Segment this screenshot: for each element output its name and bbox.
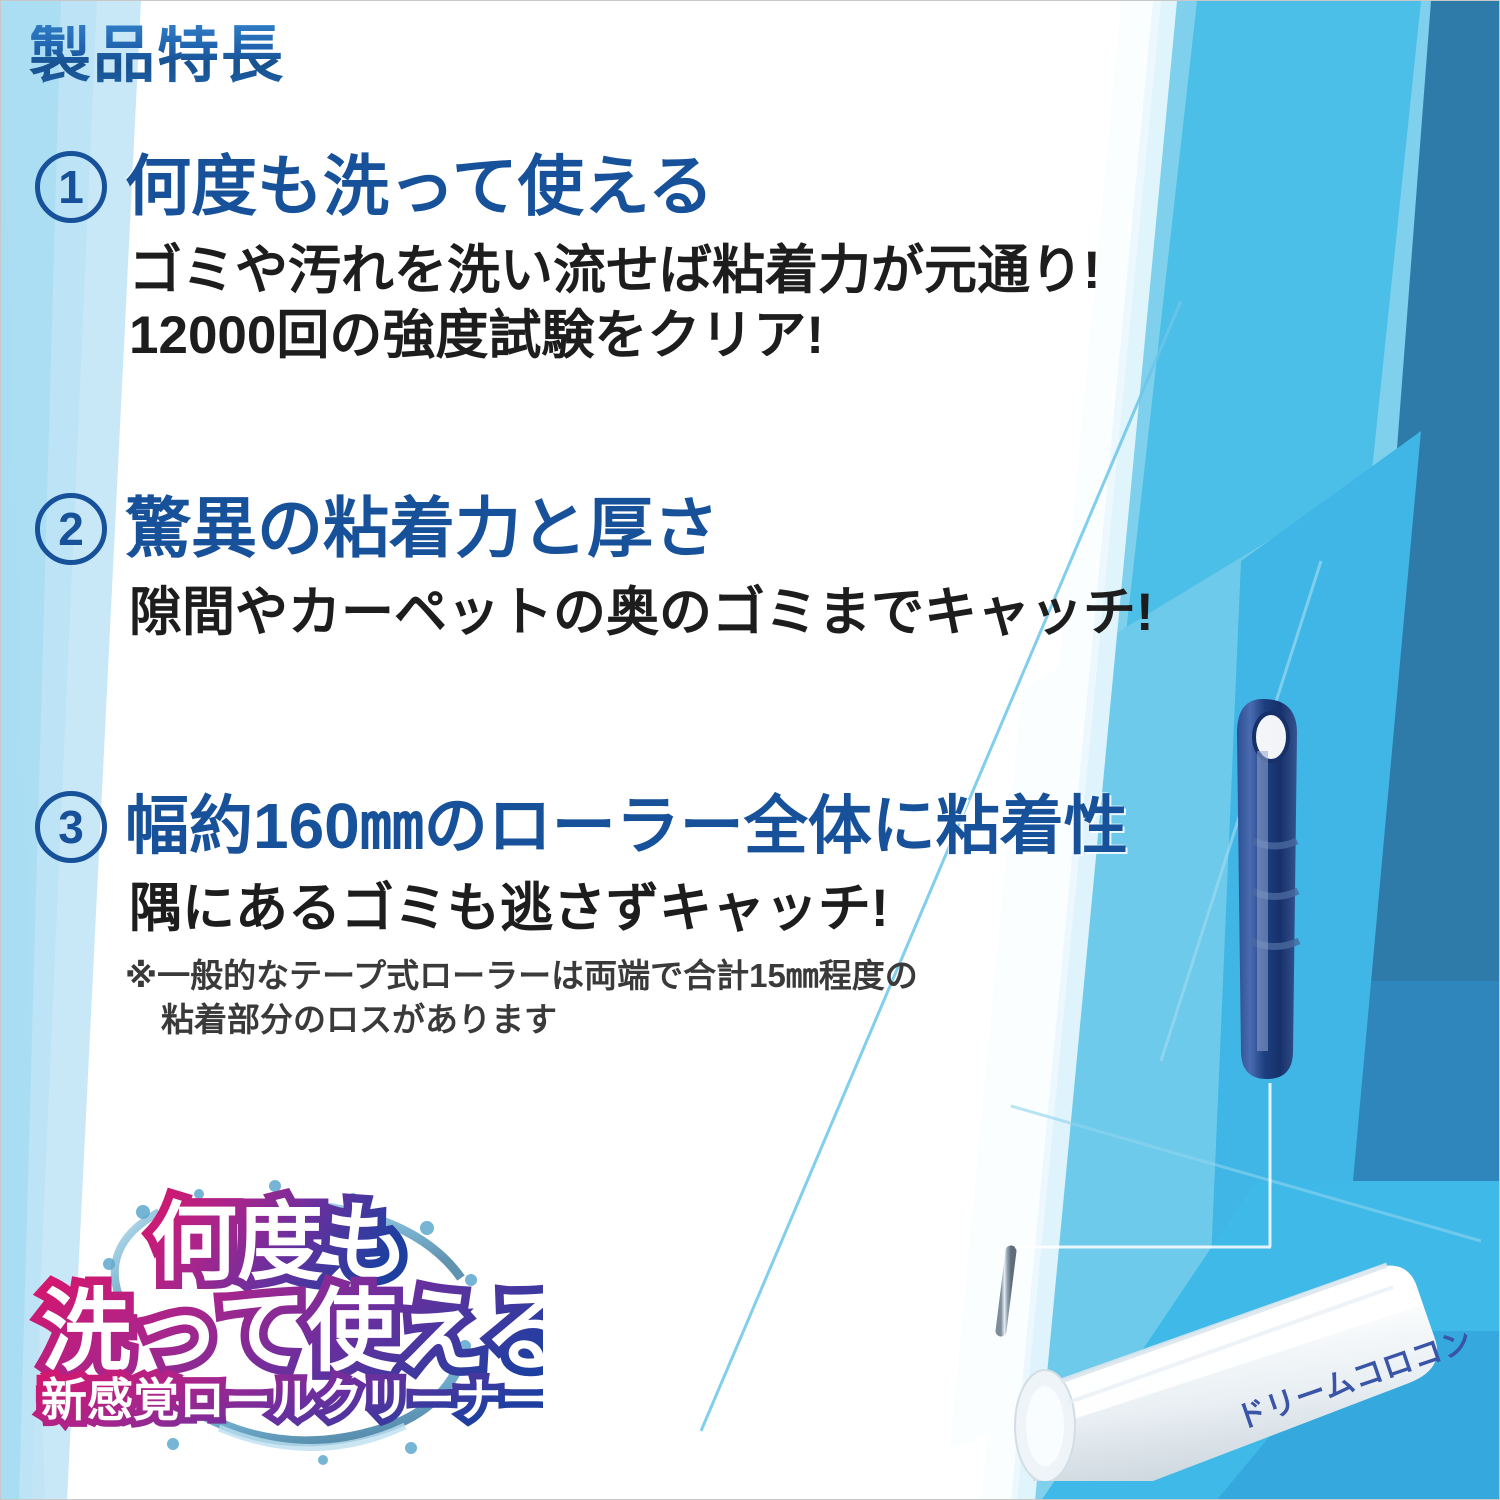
feature-1-body-line-1: ゴミや汚れを洗い流せば粘着力が元通り! (129, 239, 1500, 304)
feature-3-note-line-2: 粘着部分のロスがあります (125, 998, 1500, 1043)
feature-3-body-line-1: 隅にあるゴミも逃さずキャッチ! (129, 877, 1500, 942)
feature-1-title: 何度も洗って使える (125, 152, 714, 221)
feature-2-title: 驚異の粘着力と厚さ (125, 494, 719, 563)
feature-3-note: ※一般的なテープ式ローラーは両端で合計15㎜程度の 粘着部分のロスがあります (1, 954, 1500, 1043)
feature-1-body: ゴミや汚れを洗い流せば粘着力が元通り! 12000回の強度試験をクリア! (1, 239, 1500, 368)
badge-line-1: 何度も (151, 1195, 409, 1291)
feature-3-title: 幅約160㎜のローラー全体に粘着性 (125, 793, 1128, 860)
feature-2-number: 2 (35, 493, 107, 565)
feature-1-number: 1 (35, 151, 107, 223)
page-title: 製品特長 (29, 25, 285, 87)
content-layer: 製品特長 1 何度も洗って使える ゴミや汚れを洗い流せば粘着力が元通り! 120… (1, 1, 1500, 1500)
badge-text-group: 何度も 洗って使える! 新感覚ロールクリーナー (23, 1176, 543, 1476)
feature-2-body-line-1: 隙間やカーペットの奥のゴミまでキャッチ! (129, 581, 1500, 646)
feature-1-body-line-2: 12000回の強度試験をクリア! (129, 304, 1500, 369)
advertisement-panel: ドリームコロコン 製品特長 1 何度も洗って使える ゴミや汚れを洗い流せば粘着力… (0, 0, 1500, 1500)
feature-3-note-line-1: ※一般的なテープ式ローラーは両端で合計15㎜程度の (125, 957, 918, 994)
feature-block-1: 1 何度も洗って使える ゴミや汚れを洗い流せば粘着力が元通り! 12000回の強… (1, 151, 1500, 368)
feature-3-body: 隅にあるゴミも逃さずキャッチ! (1, 877, 1500, 942)
badge-line-3: 新感覚ロールクリーナー (41, 1374, 543, 1426)
feature-3-heading: 3 幅約160㎜のローラー全体に粘着性 (1, 791, 1500, 863)
feature-1-heading: 1 何度も洗って使える (1, 151, 1500, 223)
feature-2-heading: 2 驚異の粘着力と厚さ (1, 493, 1500, 565)
badge-line-2: 洗って使える! (41, 1282, 543, 1382)
feature-3-number: 3 (35, 791, 107, 863)
feature-block-2: 2 驚異の粘着力と厚さ 隙間やカーペットの奥のゴミまでキャッチ! (1, 493, 1500, 646)
feature-block-3: 3 幅約160㎜のローラー全体に粘着性 隅にあるゴミも逃さずキャッチ! ※一般的… (1, 791, 1500, 1043)
feature-2-body: 隙間やカーペットの奥のゴミまでキャッチ! (1, 581, 1500, 646)
washable-badge: 何度も 洗って使える! 新感覚ロールクリーナー (23, 1176, 543, 1476)
